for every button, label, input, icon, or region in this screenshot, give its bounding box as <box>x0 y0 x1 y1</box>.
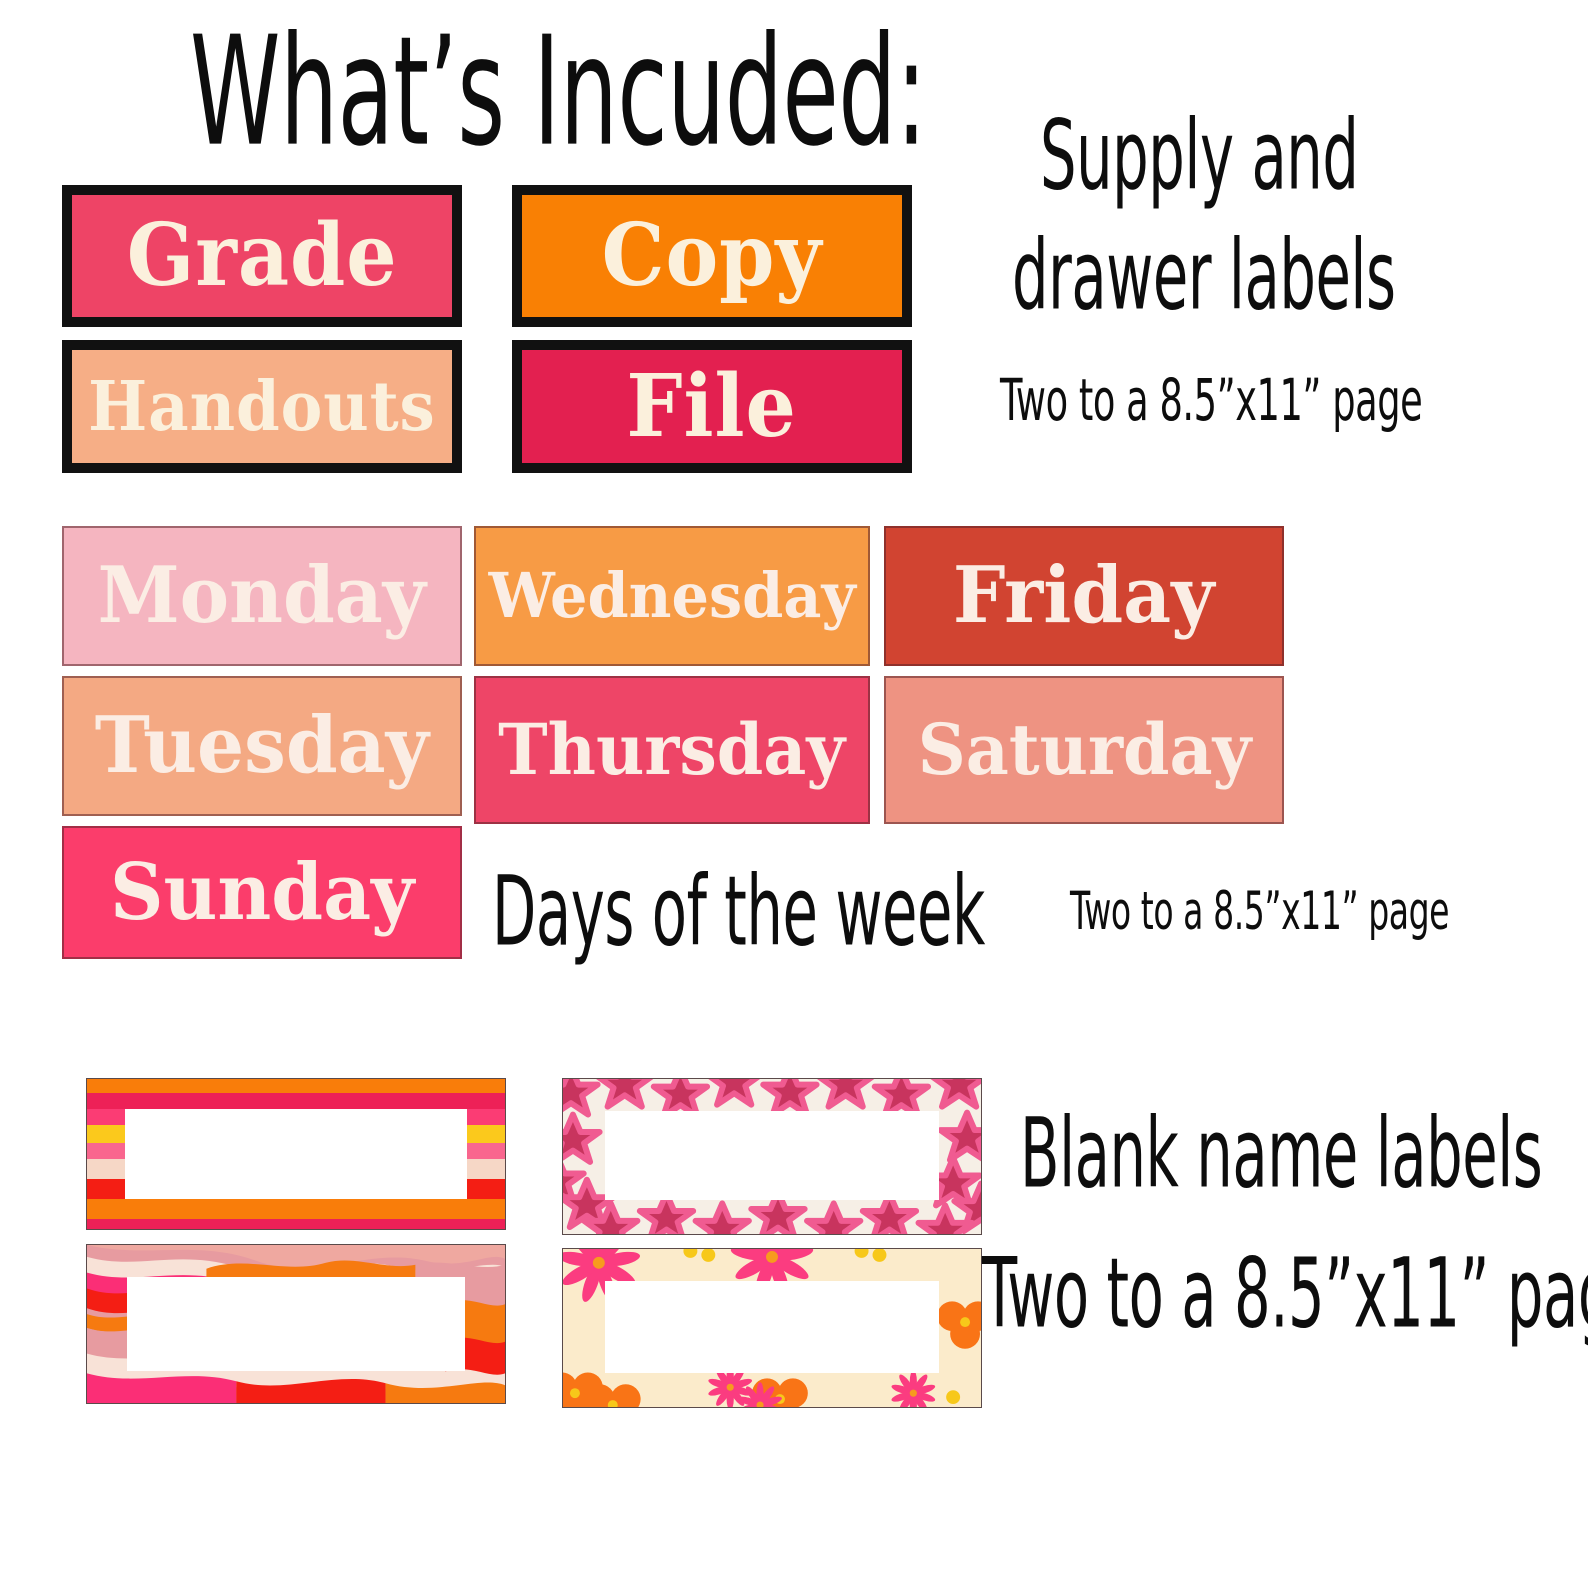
day-label-monday-text: Monday <box>98 557 426 635</box>
supply-label-copy[interactable]: Copy <box>512 185 912 327</box>
blank-names-page-note: Two to a 8.5”x11” page <box>982 1240 1588 1351</box>
supply-label-grade[interactable]: Grade <box>62 185 462 327</box>
day-label-friday-text: Friday <box>953 557 1214 635</box>
blank-name-field-striped[interactable] <box>125 1109 467 1199</box>
supply-label-file-text: File <box>627 364 797 450</box>
supply-page-note: Two to a 8.5”x11” page <box>1000 368 1422 435</box>
poster-canvas: What’s Incuded: Grade Copy Handouts File… <box>0 0 1588 1588</box>
blank-name-label-flowers[interactable] <box>562 1248 982 1408</box>
day-label-saturday[interactable]: Saturday <box>884 676 1284 824</box>
day-label-tuesday-text: Tuesday <box>95 707 429 785</box>
supply-label-grade-text: Grade <box>127 213 398 299</box>
supply-label-file[interactable]: File <box>512 340 912 473</box>
day-label-sunday-text: Sunday <box>110 854 414 932</box>
days-caption: Days of the week <box>492 858 985 969</box>
blank-name-field-swirl[interactable] <box>127 1277 465 1371</box>
day-label-thursday-text: Thursday <box>499 715 846 785</box>
day-label-monday[interactable]: Monday <box>62 526 462 666</box>
supply-label-handouts-text: Handouts <box>88 373 436 441</box>
blank-name-label-striped[interactable] <box>86 1078 506 1230</box>
page-title: What’s Incuded: <box>190 16 926 167</box>
supply-caption-line-2: drawer labels <box>1012 222 1396 333</box>
day-label-friday[interactable]: Friday <box>884 526 1284 666</box>
day-label-saturday-text: Saturday <box>917 715 1250 785</box>
day-label-tuesday[interactable]: Tuesday <box>62 676 462 816</box>
supply-caption-line-1: Supply and <box>1040 102 1358 213</box>
day-label-wednesday-text: Wednesday <box>488 565 855 627</box>
day-label-wednesday[interactable]: Wednesday <box>474 526 870 666</box>
blank-name-label-swirl[interactable] <box>86 1244 506 1404</box>
supply-label-handouts[interactable]: Handouts <box>62 340 462 473</box>
blank-name-label-stars[interactable] <box>562 1078 982 1235</box>
day-label-sunday[interactable]: Sunday <box>62 826 462 959</box>
day-label-thursday[interactable]: Thursday <box>474 676 870 824</box>
blank-name-field-stars[interactable] <box>605 1111 939 1200</box>
days-page-note: Two to a 8.5”x11” page <box>1070 883 1449 942</box>
supply-label-copy-text: Copy <box>602 213 823 299</box>
blank-names-caption: Blank name labels <box>1020 1100 1542 1211</box>
blank-name-field-flowers[interactable] <box>605 1281 939 1373</box>
